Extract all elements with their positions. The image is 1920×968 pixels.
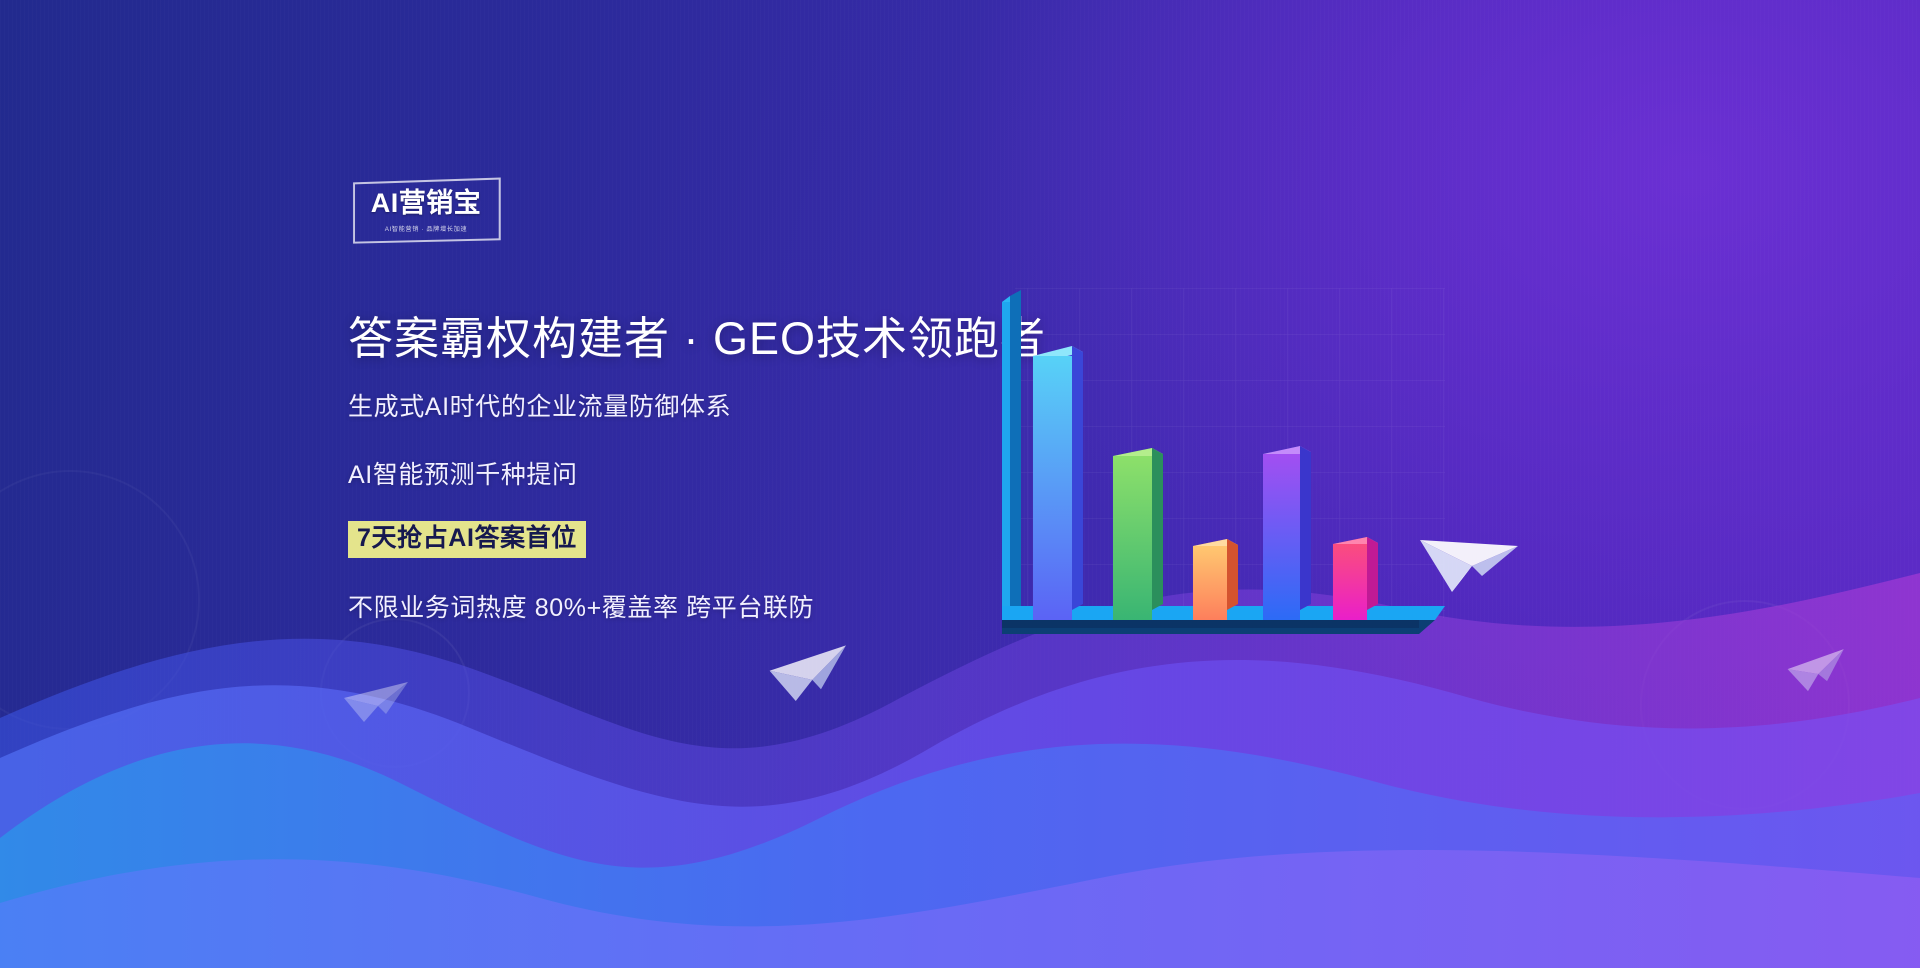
hero-banner: AI营销宝 AI智能营销 · 品牌增长加速 答案霸权构建者 · GEO技术领跑者… [0, 0, 1920, 968]
paper-plane-right-icon [1418, 518, 1522, 599]
paper-plane-far-right-icon [1783, 641, 1852, 702]
bar-chart-illustration [975, 288, 1445, 660]
brand-logo[interactable]: AI营销宝 AI智能营销 · 品牌增长加速 [352, 180, 500, 242]
paper-plane-mid-icon [766, 639, 854, 712]
logo-wordmark: AI营销宝 [352, 190, 500, 217]
paper-plane-left-icon [342, 672, 412, 731]
logo-tagline: AI智能营销 · 品牌增长加速 [355, 223, 497, 233]
hero-highlight-badge: 7天抢占AI答案首位 [348, 521, 586, 558]
